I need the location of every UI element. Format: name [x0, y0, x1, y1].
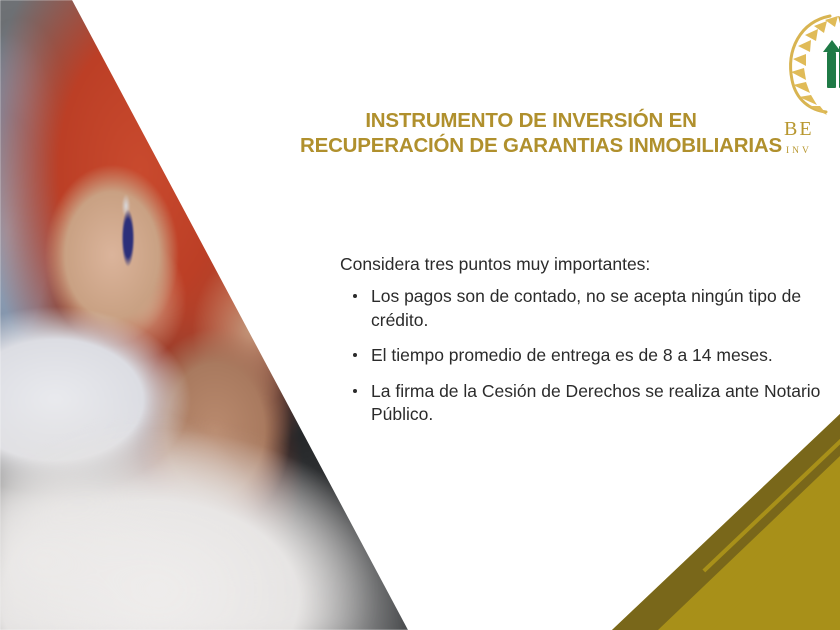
deco-stripe	[655, 467, 840, 630]
body-lead-text: Considera tres puntos muy importantes:	[340, 252, 830, 276]
slide-title: INSTRUMENTO DE INVERSIÓN EN RECUPERACIÓN…	[300, 108, 762, 158]
bullet-dot-icon	[353, 353, 357, 357]
laurel-wreath-icon	[778, 8, 840, 118]
list-item-text: El tiempo promedio de entrega es de 8 a …	[371, 345, 773, 365]
list-item: Los pagos son de contado, no se acepta n…	[340, 285, 830, 332]
title-line-1: INSTRUMENTO DE INVERSIÓN EN	[300, 108, 762, 133]
list-item: El tiempo promedio de entrega es de 8 a …	[340, 344, 830, 368]
logo-tagline: INV	[786, 146, 812, 156]
list-item-text: La firma de la Cesión de Derechos se rea…	[371, 381, 820, 425]
slide-body: Considera tres puntos muy importantes: L…	[340, 252, 830, 427]
bullet-dot-icon	[353, 294, 357, 298]
brand-logo: BE INV	[778, 8, 840, 168]
deco-stripe	[676, 499, 840, 630]
logo-wordmark: BE	[784, 118, 814, 141]
bullet-list: Los pagos son de contado, no se acepta n…	[340, 285, 830, 427]
presentation-slide: INSTRUMENTO DE INVERSIÓN EN RECUPERACIÓN…	[0, 0, 840, 630]
list-item: La firma de la Cesión de Derechos se rea…	[340, 380, 830, 427]
list-item-text: Los pagos son de contado, no se acepta n…	[371, 286, 801, 330]
deco-stripe	[702, 435, 840, 573]
green-building-emblem	[823, 40, 840, 88]
bullet-dot-icon	[353, 389, 357, 393]
title-line-2: RECUPERACIÓN DE GARANTIAS INMOBILIARIAS	[300, 133, 762, 158]
